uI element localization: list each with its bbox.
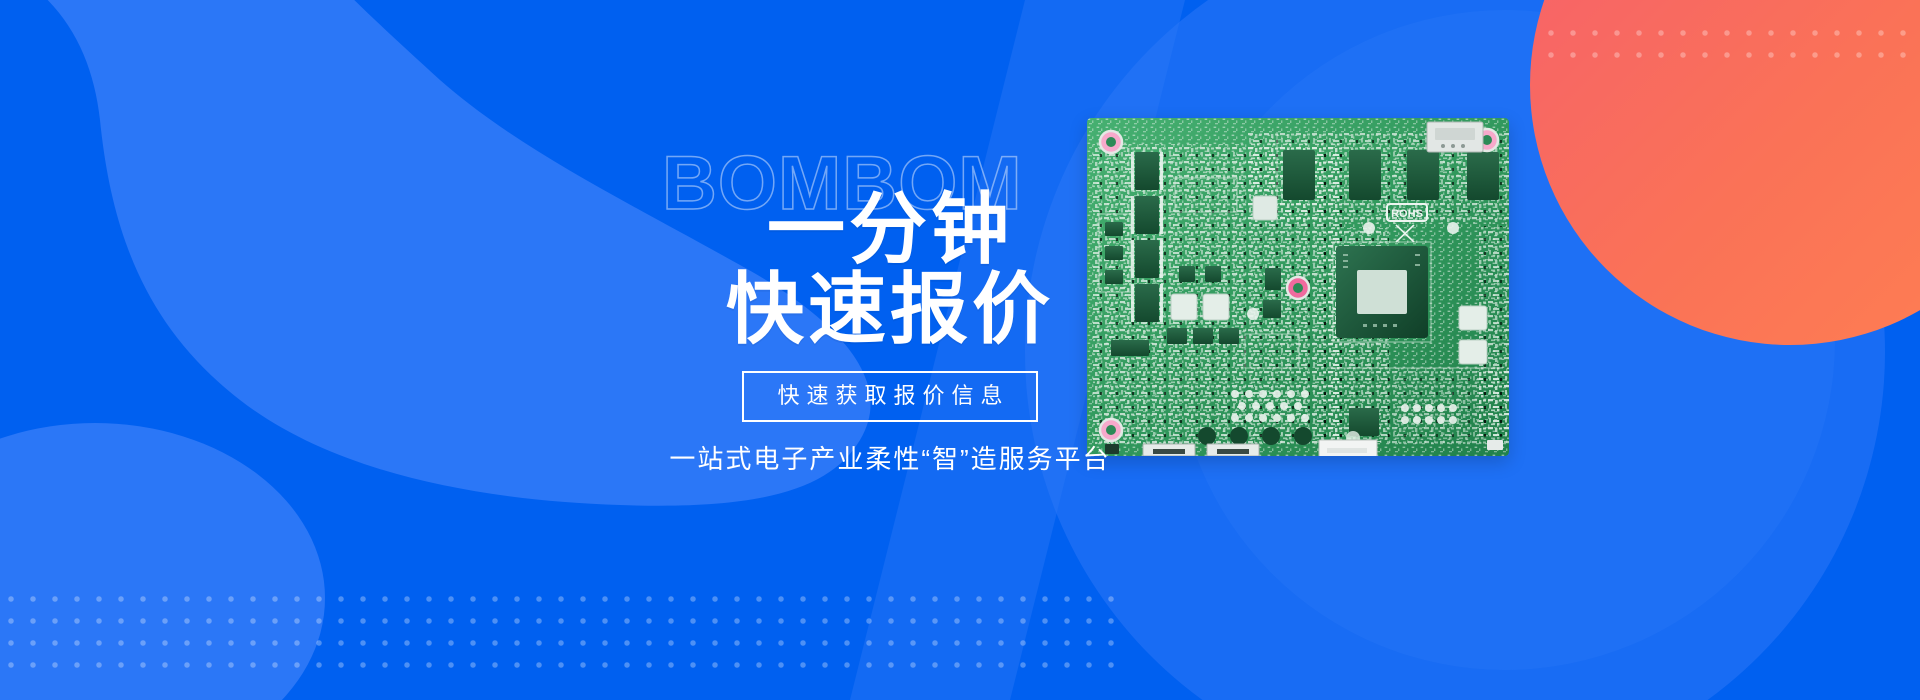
pcb-illustration: ROHS: [1087, 118, 1509, 456]
headline-block: BOMBOM 一分钟 快速报价 快速获取报价信息 一站式电子产业柔性“智”造服务…: [680, 150, 1100, 570]
pcb-main-processor: [1336, 246, 1428, 338]
dot-grid-top-right: [1540, 22, 1920, 68]
pcb-connector-shield: [1427, 122, 1483, 152]
tagline-text: 一站式电子产业柔性“智”造服务平台: [669, 439, 1110, 476]
headline-line-1: 一分钟: [726, 190, 1054, 270]
svg-text:ROHS: ROHS: [1391, 208, 1423, 220]
promo-banner: ROHS: [0, 0, 1920, 700]
page-title: 一分钟 快速报价: [726, 190, 1054, 349]
headline-line-2: 快速报价: [726, 270, 1054, 350]
pcb-board-image: ROHS: [1087, 118, 1509, 456]
get-quote-button[interactable]: 快速获取报价信息: [742, 371, 1037, 422]
dot-grid-bottom-left: [0, 588, 1130, 680]
